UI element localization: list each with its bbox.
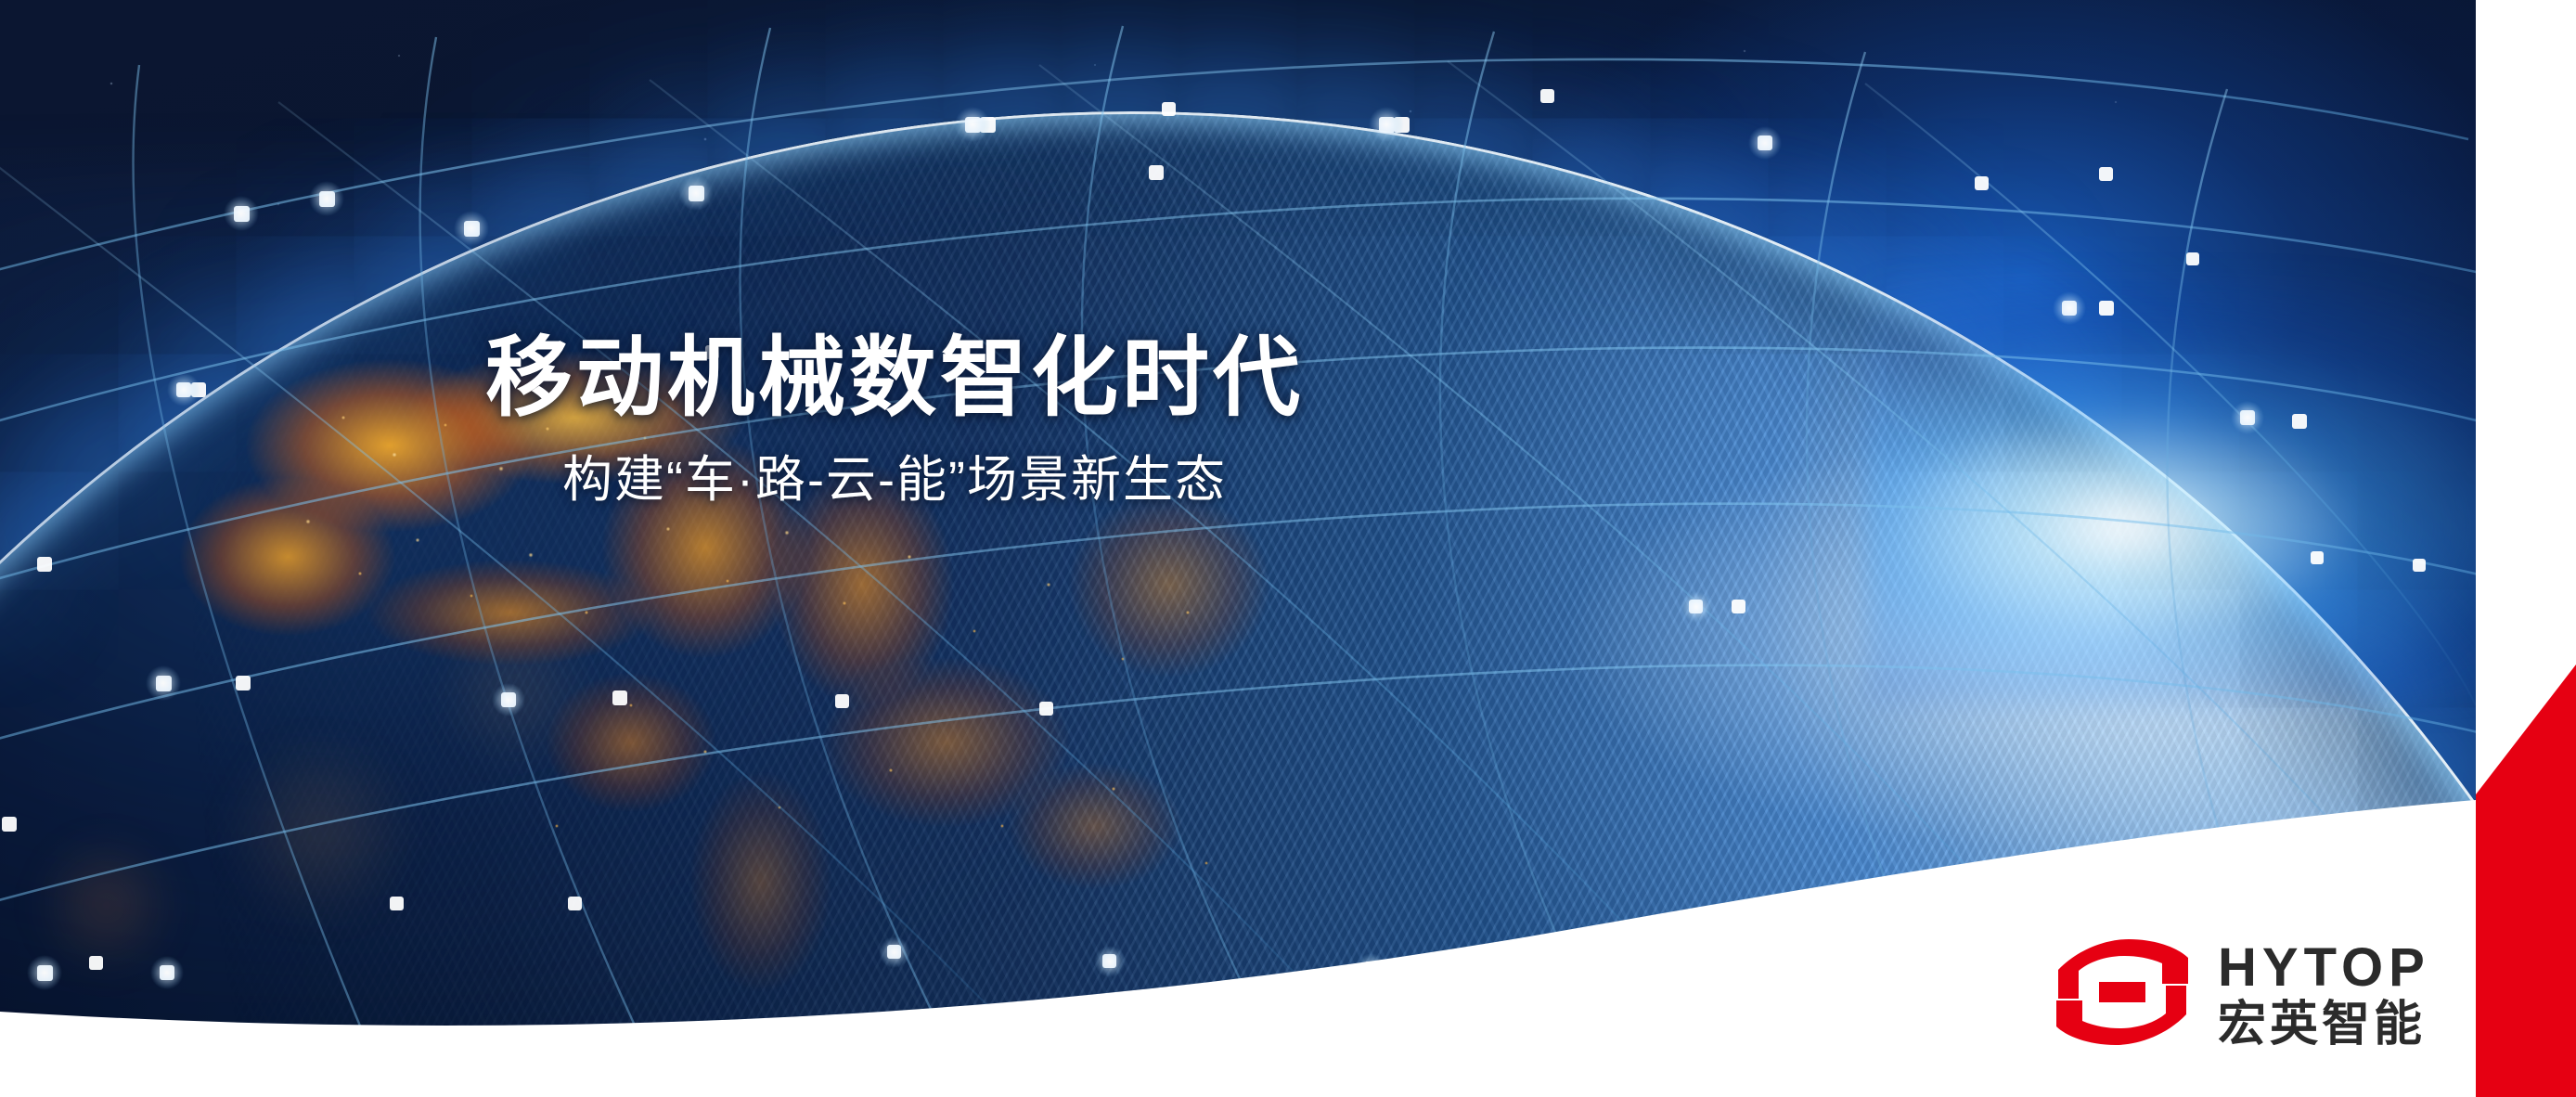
brand-logo-text: HYTOP 宏英智能 xyxy=(2218,941,2430,1049)
brand-wordmark: HYTOP xyxy=(2218,941,2430,995)
hytop-s-mark-icon xyxy=(2053,937,2192,1052)
presentation-slide: 移动机械数智化时代 构建“车·路-云-能”场景新生态 xyxy=(0,0,2576,1097)
right-white-gutter xyxy=(2476,0,2576,1097)
brand-chinese-name: 宏英智能 xyxy=(2218,1000,2430,1049)
brand-logo[interactable]: HYTOP 宏英智能 xyxy=(2053,937,2430,1052)
hero-background: 移动机械数智化时代 构建“车·路-云-能”场景新生态 xyxy=(0,0,2476,1097)
